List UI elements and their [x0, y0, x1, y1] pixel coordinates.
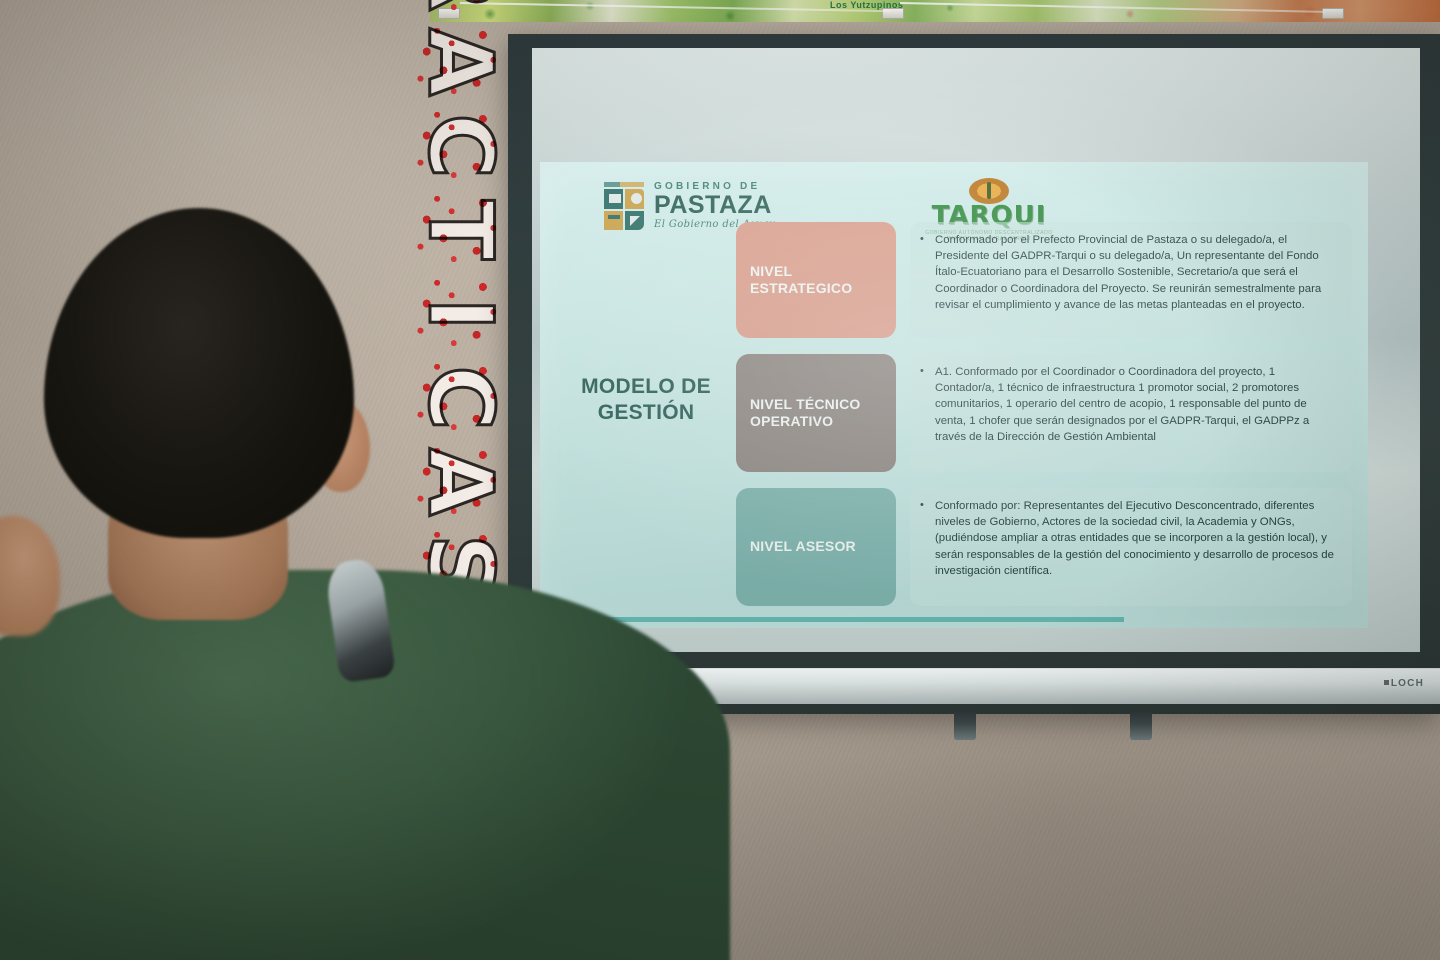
- level-description-text: Conformado por: Representantes del Ejecu…: [935, 498, 1334, 596]
- slide-row: NIVEL TÉCNICO OPERATIVO • A1. Conformado…: [736, 354, 1352, 472]
- slide-rows: NIVEL ESTRATEGICO • Conformado por el Pr…: [736, 222, 1352, 608]
- level-label-estrategico: NIVEL ESTRATEGICO: [736, 222, 896, 338]
- mural-pin: [1322, 8, 1344, 19]
- level-description-estrategico: • Conformado por el Prefecto Provincial …: [910, 222, 1352, 338]
- brand-square-icon: [1384, 680, 1389, 685]
- bullet-icon: •: [920, 364, 928, 462]
- bullet-icon: •: [920, 498, 928, 596]
- foreground-person: [0, 208, 680, 960]
- shield-quadrant: [625, 189, 644, 209]
- level-description-text: Conformado por el Prefecto Provincial de…: [935, 232, 1334, 328]
- person-hand: [0, 516, 60, 636]
- shield-quadrant: [604, 189, 623, 209]
- level-label-tecnico-operativo: NIVEL TÉCNICO OPERATIVO: [736, 354, 896, 472]
- slide-row: NIVEL ESTRATEGICO • Conformado por el Pr…: [736, 222, 1352, 338]
- screen-mount-bracket: [1130, 710, 1152, 740]
- letter-glyph: A: [416, 28, 504, 96]
- letter-glyph: C: [416, 114, 504, 179]
- level-description-asesor: • Conformado por: Representantes del Eje…: [910, 488, 1352, 606]
- room-scene: Los Yutzupinos R A C T I C: [0, 0, 1440, 960]
- shield-cap: [604, 182, 644, 187]
- screen-brand-label: LOCH: [1384, 678, 1424, 689]
- person-head: [44, 208, 354, 538]
- tarqui-seal-icon: [969, 178, 1009, 204]
- level-description-tecnico-operativo: • A1. Conformado por el Coordinador o Co…: [910, 354, 1352, 472]
- level-label-asesor: NIVEL ASESOR: [736, 488, 896, 606]
- bullet-icon: •: [920, 232, 928, 328]
- screen-mount-bracket: [954, 710, 976, 740]
- level-description-text: A1. Conformado por el Coordinador o Coor…: [935, 364, 1334, 462]
- slide-row: NIVEL ASESOR • Conformado por: Represent…: [736, 488, 1352, 606]
- wall-mural: Los Yutzupinos: [430, 0, 1440, 22]
